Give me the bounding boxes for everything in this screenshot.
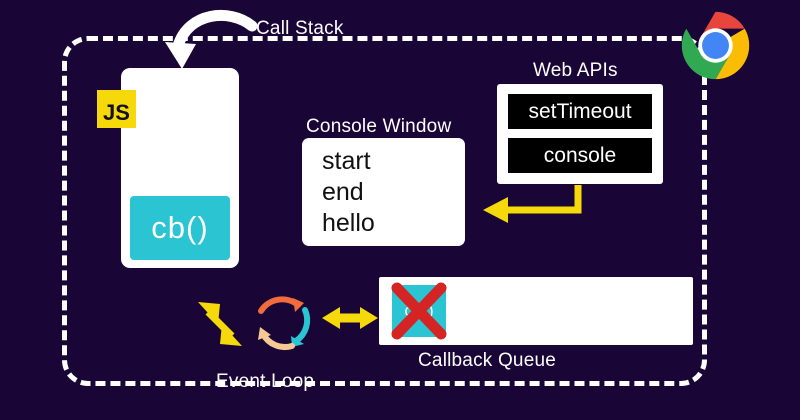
- console-line: end: [322, 177, 465, 208]
- call-stack-frame-cb: cb(): [130, 196, 230, 260]
- console-line: hello: [322, 208, 465, 239]
- web-apis-box: setTimeout console: [497, 84, 663, 184]
- chrome-logo-icon: [681, 11, 750, 80]
- console-window-box: start end hello: [302, 138, 465, 246]
- call-stack-label: Call Stack: [256, 18, 344, 40]
- event-loop-label: Event Loop: [216, 371, 314, 393]
- console-line: start: [322, 146, 465, 177]
- js-logo-badge: JS: [97, 90, 136, 128]
- console-window-label: Console Window: [306, 116, 451, 138]
- callback-queue-item-cb: cb(): [392, 285, 446, 337]
- event-loop-circular-arrows-icon: [252, 292, 314, 354]
- web-api-item-settimeout: setTimeout: [508, 94, 652, 129]
- callback-queue-label: Callback Queue: [418, 350, 556, 372]
- web-api-item-console: console: [508, 138, 652, 173]
- web-apis-label: Web APIs: [533, 60, 618, 82]
- diagram-canvas: cb() JS Call Stack Console Window start …: [0, 0, 800, 420]
